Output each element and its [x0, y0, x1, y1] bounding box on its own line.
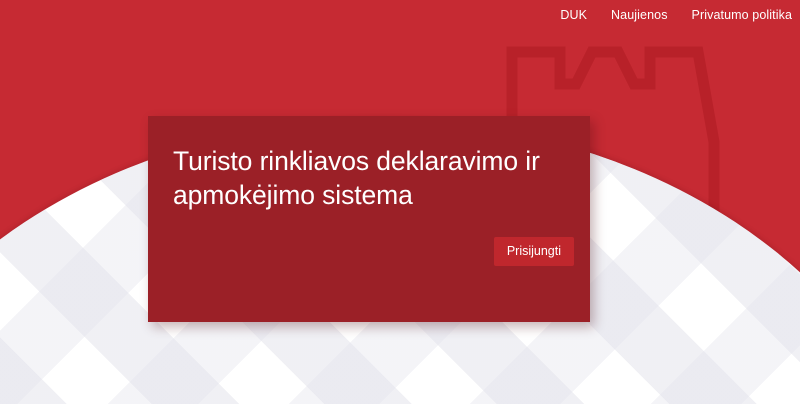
hero-card: Turisto rinkliavos deklaravimo ir apmokė… — [148, 116, 590, 322]
nav-link-duk[interactable]: DUK — [560, 9, 587, 22]
login-button[interactable]: Prisijungti — [494, 237, 574, 267]
nav-link-naujienos[interactable]: Naujienos — [611, 9, 668, 22]
page-root: DUK Naujienos Privatumo politika Turisto… — [0, 0, 800, 404]
top-navigation: DUK Naujienos Privatumo politika — [560, 0, 800, 30]
hero-actions: Prisijungti — [494, 237, 574, 267]
nav-link-privatumo-politika[interactable]: Privatumo politika — [692, 9, 792, 22]
page-title: Turisto rinkliavos deklaravimo ir apmokė… — [162, 144, 560, 213]
